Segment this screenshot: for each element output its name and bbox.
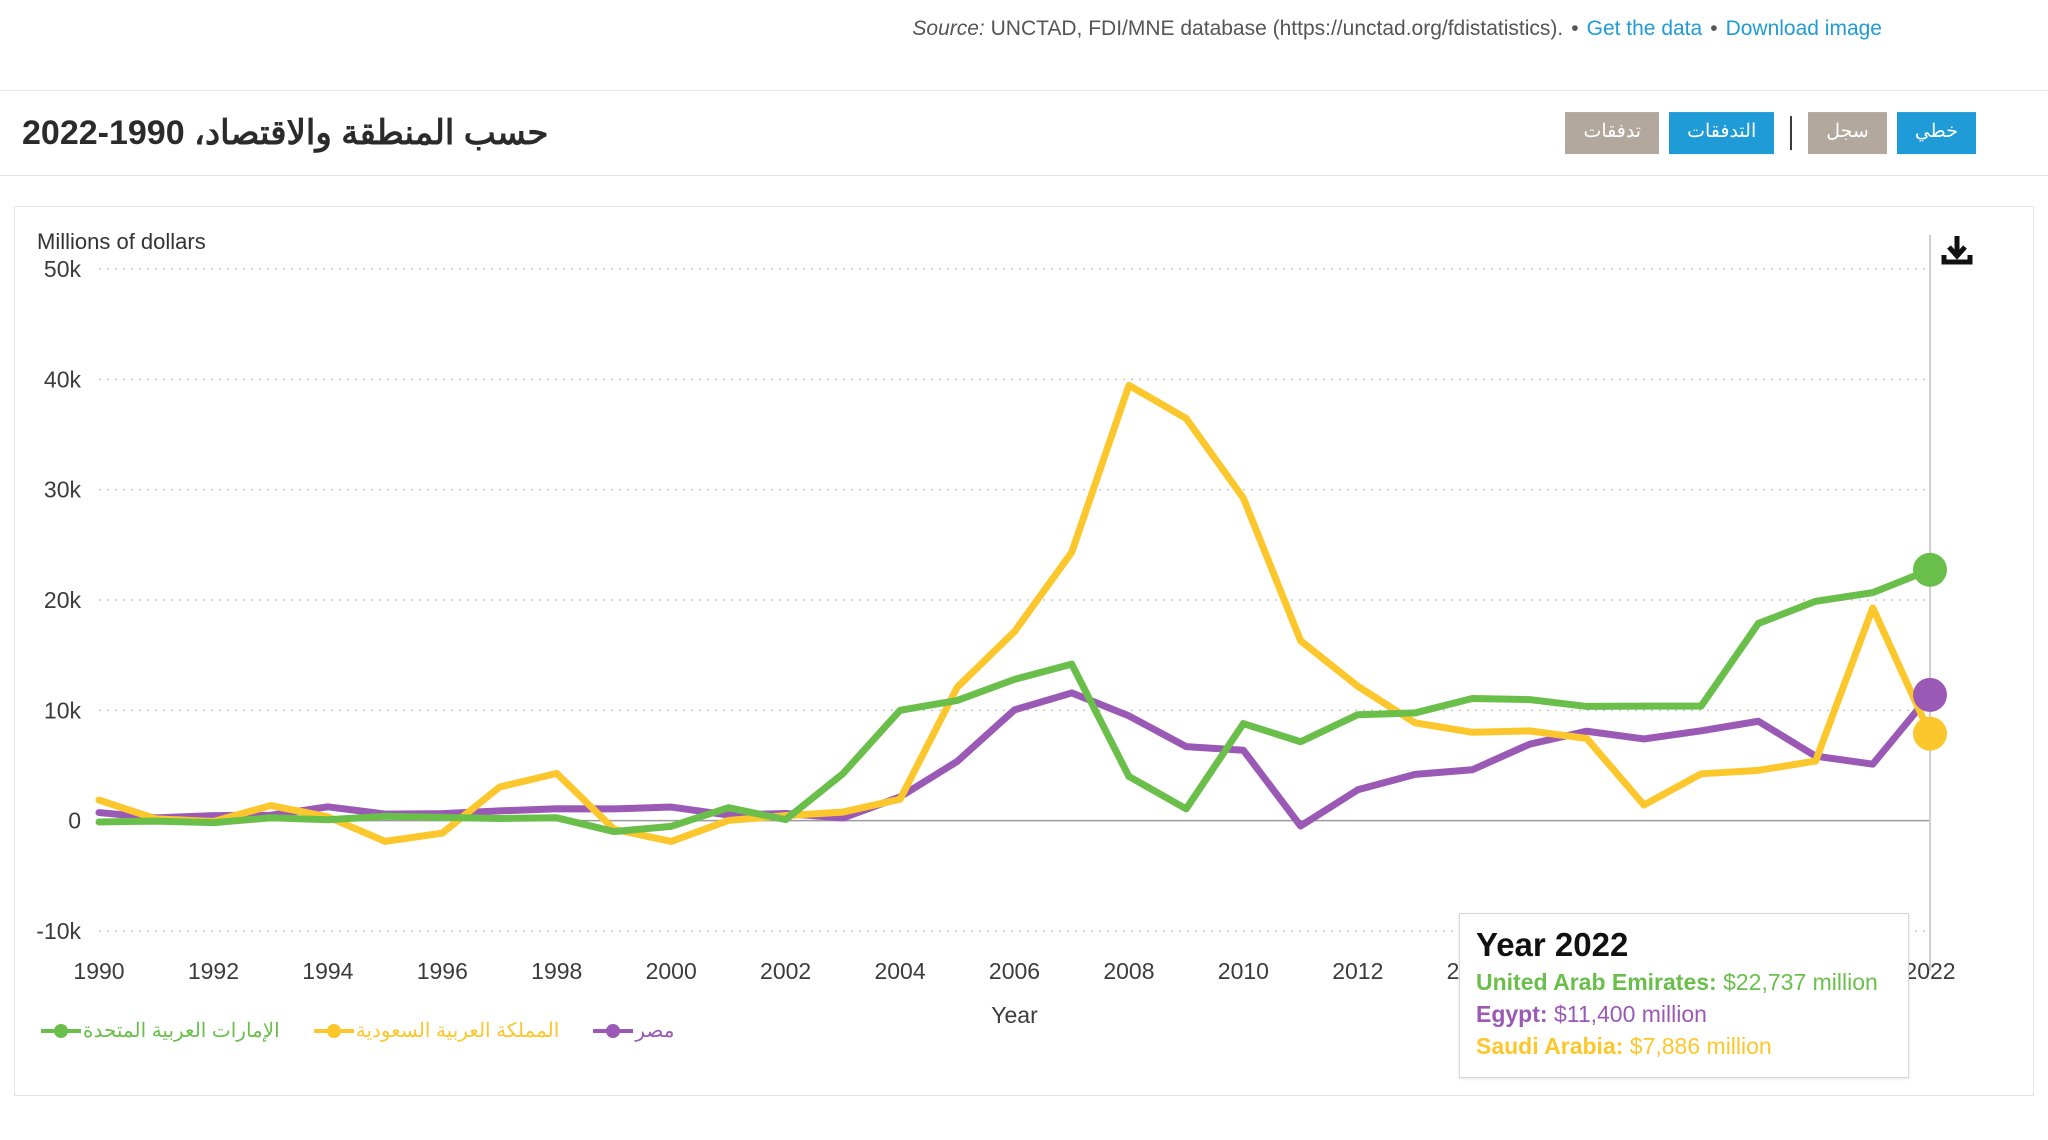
svg-text:Year: Year [991, 1002, 1038, 1028]
svg-text:2020: 2020 [1790, 958, 1841, 984]
svg-text:50k: 50k [44, 256, 82, 282]
source-text: UNCTAD, FDI/MNE database (https://unctad… [991, 17, 1564, 41]
download-image-link[interactable]: Download image [1726, 17, 1882, 41]
svg-text:20k: 20k [44, 587, 82, 613]
legend-item-uae[interactable]: الإمارات العربية المتحدة [41, 1018, 280, 1043]
svg-text:2014: 2014 [1447, 958, 1498, 984]
page-title: حسب المنطقة والاقتصاد، 1990-2022 [22, 113, 548, 153]
svg-text:2022: 2022 [1904, 958, 1955, 984]
legend-label-egypt: مصر [635, 1018, 674, 1043]
svg-text:-10k: -10k [36, 918, 81, 944]
get-the-data-link[interactable]: Get the data [1587, 17, 1703, 41]
separator-dot: • [1571, 17, 1578, 41]
legend-marker-saudi-arabia [314, 1021, 354, 1041]
svg-text:2004: 2004 [874, 958, 925, 984]
line-chart-svg[interactable]: 50k40k30k20k10k0-10k19901992199419961998… [15, 207, 2035, 1097]
chart-plot-area[interactable]: 50k40k30k20k10k0-10k19901992199419961998… [15, 207, 2033, 1095]
svg-text:1992: 1992 [188, 958, 239, 984]
button-outflows[interactable]: تدفقات [1565, 112, 1659, 154]
legend-item-saudi-arabia[interactable]: المملكة العربية السعودية [314, 1018, 560, 1043]
source-label: Source: [912, 17, 984, 41]
legend-marker-uae [41, 1021, 81, 1041]
svg-text:2016: 2016 [1561, 958, 1612, 984]
button-linear-scale[interactable]: خطي [1897, 112, 1976, 154]
svg-text:2018: 2018 [1676, 958, 1727, 984]
svg-text:30k: 30k [44, 477, 82, 503]
legend-item-egypt[interactable]: مصر [593, 1018, 674, 1043]
svg-text:1998: 1998 [531, 958, 582, 984]
svg-text:1996: 1996 [417, 958, 468, 984]
legend-label-uae: الإمارات العربية المتحدة [83, 1018, 280, 1043]
svg-text:0: 0 [68, 808, 81, 834]
svg-text:40k: 40k [44, 366, 82, 392]
svg-text:10k: 10k [44, 697, 82, 723]
svg-text:2012: 2012 [1332, 958, 1383, 984]
svg-text:2008: 2008 [1103, 958, 1154, 984]
chart-card: Millions of dollars 50k40k30k20k10k0-10k… [14, 206, 2034, 1096]
separator-dot: • [1710, 17, 1717, 41]
button-inflows[interactable]: التدفقات [1669, 112, 1774, 154]
svg-text:1994: 1994 [302, 958, 353, 984]
legend-marker-egypt [593, 1021, 633, 1041]
svg-text:2000: 2000 [646, 958, 697, 984]
chart-options-buttons: خطي سجل التدفقات تدفقات [1565, 112, 1976, 154]
svg-text:1990: 1990 [73, 958, 124, 984]
source-bar: Source: UNCTAD, FDI/MNE database (https:… [0, 0, 2048, 58]
svg-text:2006: 2006 [989, 958, 1040, 984]
title-row: حسب المنطقة والاقتصاد، 1990-2022 خطي سجل… [0, 90, 2048, 176]
button-group-divider [1790, 116, 1792, 150]
legend-label-saudi-arabia: المملكة العربية السعودية [356, 1018, 560, 1043]
svg-text:2002: 2002 [760, 958, 811, 984]
svg-text:2010: 2010 [1218, 958, 1269, 984]
chart-legend: الإمارات العربية المتحدة المملكة العربية… [41, 1018, 674, 1043]
button-log-scale[interactable]: سجل [1808, 112, 1887, 154]
